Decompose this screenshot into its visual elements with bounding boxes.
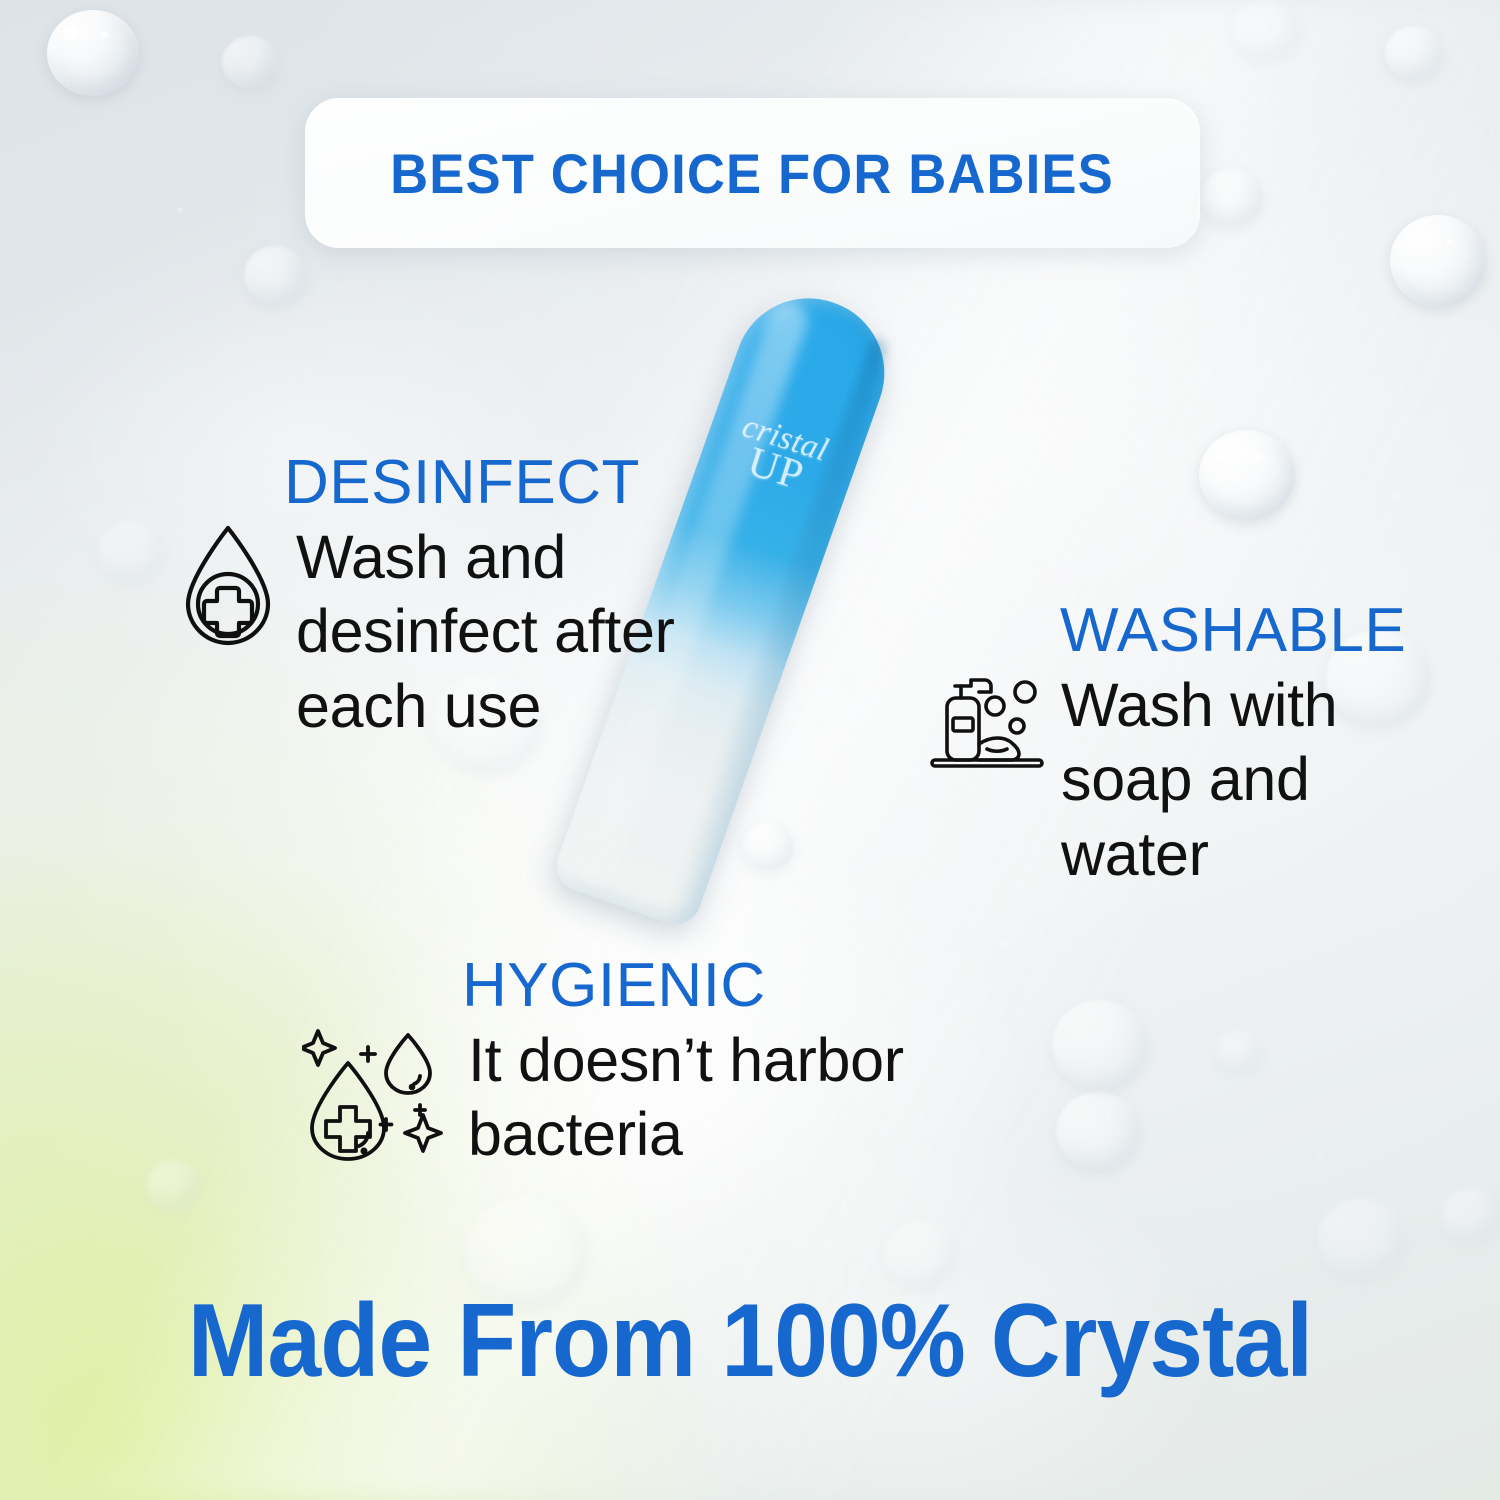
product-infographic: cristal UP BEST CHOICE FOR BABIES DESINF… bbox=[0, 0, 1500, 1500]
soap-bubble bbox=[1318, 1198, 1406, 1278]
soap-bubble bbox=[1216, 1030, 1262, 1072]
soap-bubble bbox=[1052, 1000, 1148, 1090]
headline-banner: BEST CHOICE FOR BABIES bbox=[305, 98, 1200, 248]
soap-bubble bbox=[1056, 1092, 1140, 1170]
brand-logo-top: cristal bbox=[710, 403, 862, 475]
feature-washable-body: Wash with soap and water bbox=[1061, 668, 1337, 891]
soap-bubble bbox=[222, 36, 278, 88]
soap-bubble bbox=[98, 520, 164, 582]
headline-banner-text: BEST CHOICE FOR BABIES bbox=[391, 141, 1115, 206]
feature-hygienic-title: HYGIENIC bbox=[462, 955, 904, 1017]
feature-desinfect-body: Wash and desinfect after each use bbox=[296, 520, 675, 743]
soap-bubble bbox=[1231, 0, 1301, 60]
nail-file-edge-shadow bbox=[671, 337, 889, 910]
soap-bubble bbox=[1201, 168, 1263, 226]
soap-bubble bbox=[146, 1160, 200, 1210]
feature-hygienic: HYGIENIC bbox=[302, 955, 904, 1172]
brand-logo: cristal UP bbox=[699, 403, 861, 510]
tagline-text: Made From 100% Crystal bbox=[53, 1282, 1448, 1401]
droplet-plus-icon bbox=[174, 520, 282, 657]
soap-bubble bbox=[884, 1220, 958, 1288]
soap-dispenser-icon bbox=[925, 668, 1047, 785]
soap-bubble bbox=[47, 10, 139, 96]
soap-bubble bbox=[1385, 26, 1443, 80]
feature-hygienic-body: It doesn’t harbor bacteria bbox=[468, 1023, 904, 1172]
soap-bubble bbox=[742, 822, 794, 870]
feature-washable: WASHABLE Wash with soap and water bbox=[925, 600, 1406, 891]
soap-bubble bbox=[1442, 1188, 1500, 1242]
brand-logo-bottom: UP bbox=[699, 430, 853, 510]
soap-bubble bbox=[1390, 215, 1486, 307]
feature-desinfect-title: DESINFECT bbox=[284, 452, 675, 514]
droplet-sparkle-icon bbox=[302, 1023, 454, 1170]
feature-desinfect: DESINFECT Wash and desinfect after each … bbox=[174, 452, 675, 743]
feature-washable-title: WASHABLE bbox=[1060, 600, 1406, 662]
soap-bubble bbox=[244, 246, 306, 304]
soap-bubble bbox=[1199, 430, 1295, 520]
